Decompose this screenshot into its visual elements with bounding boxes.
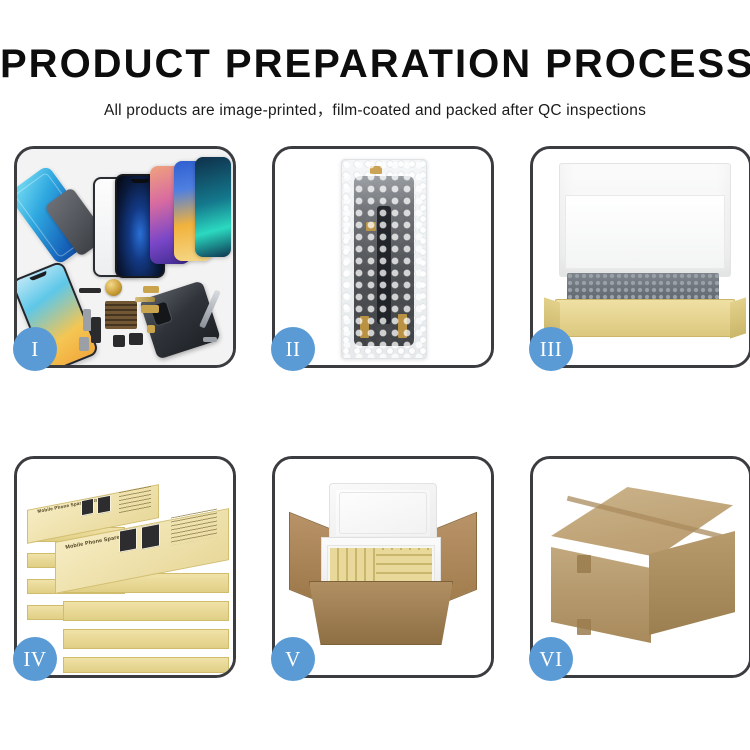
step-badge-2: II [271, 327, 315, 371]
tape-top [370, 166, 382, 174]
box-window-front-2 [141, 523, 160, 550]
part-screw [147, 325, 155, 333]
step-panel-2: II [272, 146, 494, 368]
foam-box-lid [329, 483, 437, 543]
carton-body [309, 581, 453, 645]
carton-front-face [551, 547, 651, 643]
vibration-motor-icon [105, 279, 122, 296]
part-connector [143, 286, 159, 293]
phone-teal-gradient [195, 157, 231, 257]
box-window-back-1 [81, 498, 94, 517]
page-subtitle: All products are image-printed，film-coat… [0, 84, 750, 120]
kraft-box-tray [555, 299, 735, 337]
part-sim-tray [79, 337, 89, 351]
part-screws-row [203, 337, 217, 342]
bubble-wrap-bag [341, 159, 427, 359]
header: PRODUCT PREPARATION PROCESS All products… [0, 0, 750, 120]
step-badge-6: VI [529, 637, 573, 681]
tape-bottom-left [360, 316, 369, 338]
step-panel-3: III [530, 146, 750, 368]
part-ribbon [135, 297, 155, 302]
carton-tape-upper [577, 555, 591, 573]
carton-tape-lower [577, 619, 591, 635]
infographic-page: PRODUCT PREPARATION PROCESS All products… [0, 0, 750, 750]
process-grid: I II [14, 146, 736, 678]
step-badge-3: III [529, 327, 573, 371]
part-bracket [83, 309, 91, 331]
box-stack: Mobile Phone Spare Parts Mobile Phone Sp… [23, 473, 229, 663]
part-camera [113, 335, 125, 347]
part-antenna [141, 305, 159, 313]
stack-box [63, 629, 229, 649]
step-panel-6: VI [530, 456, 750, 678]
step-badge-4: IV [13, 637, 57, 681]
foam-lid-face [565, 195, 725, 269]
tape-middle [366, 222, 376, 231]
step-panel-1: I [14, 146, 236, 368]
stack-box [63, 657, 229, 673]
wrapped-flex-cable [377, 206, 391, 324]
box-window-front-1 [119, 527, 137, 552]
step-panel-5: V [272, 456, 494, 678]
stack-box [63, 601, 229, 621]
page-title: PRODUCT PREPARATION PROCESS [0, 0, 750, 84]
step-badge-1: I [13, 327, 57, 371]
logic-board-chip [105, 301, 137, 329]
part-flex-cable [91, 317, 101, 343]
tape-bottom-right [398, 314, 407, 338]
box-window-back-2 [97, 495, 111, 515]
step-badge-5: V [271, 637, 315, 681]
part-speaker [79, 288, 101, 293]
part-speaker-box [129, 333, 143, 345]
step-panel-4: Mobile Phone Spare Parts Mobile Phone Sp… [14, 456, 236, 678]
